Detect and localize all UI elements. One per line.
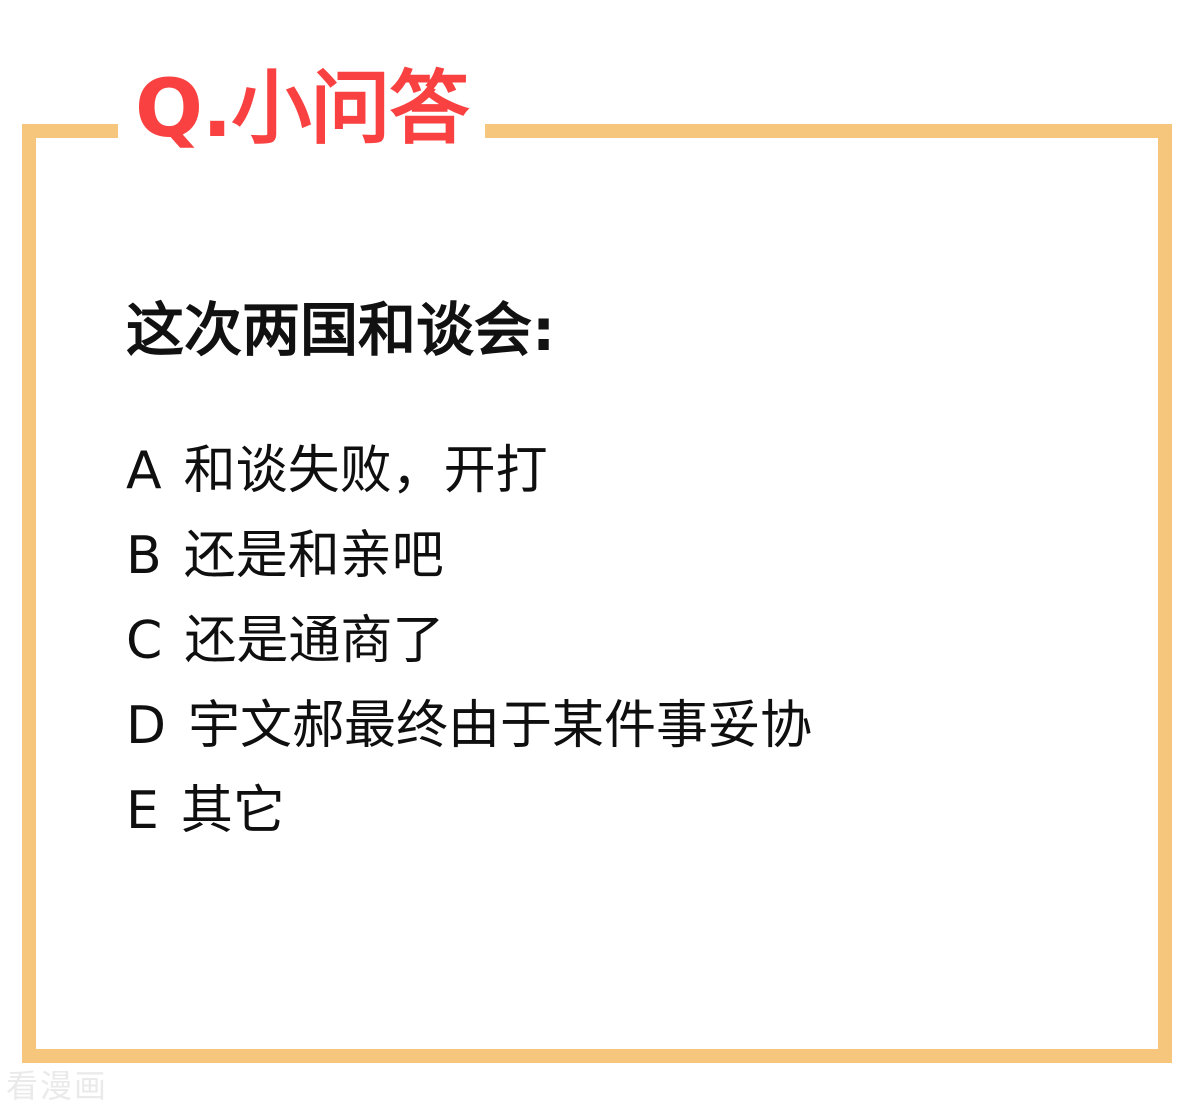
option-text-b: 还是和亲吧 bbox=[184, 525, 444, 587]
frame-bottom-segment bbox=[22, 1049, 1172, 1063]
option-key-d: D bbox=[126, 695, 166, 757]
option-key-a: A bbox=[126, 440, 162, 502]
watermark-text: 看漫画 bbox=[6, 1068, 108, 1104]
option-key-c: C bbox=[126, 610, 162, 672]
quiz-panel: Q.小问答 这次两国和谈会: A 和谈失败，开打 B 还是和亲吧 C 还是通商了… bbox=[0, 0, 1200, 1108]
options-list: A 和谈失败，开打 B 还是和亲吧 C 还是通商了 D 宇文郝最终由于某件事妥协… bbox=[126, 440, 1106, 865]
option-key-e: E bbox=[126, 780, 159, 842]
frame-right-segment bbox=[1158, 124, 1172, 1063]
option-row-a[interactable]: A 和谈失败，开打 bbox=[126, 440, 1106, 525]
option-text-d: 宇文郝最终由于某件事妥协 bbox=[188, 695, 812, 757]
frame-left-segment bbox=[22, 124, 36, 1063]
frame-top-right-segment bbox=[485, 124, 1172, 138]
option-row-e[interactable]: E 其它 bbox=[126, 780, 1106, 865]
option-row-d[interactable]: D 宇文郝最终由于某件事妥协 bbox=[126, 695, 1106, 780]
option-row-b[interactable]: B 还是和亲吧 bbox=[126, 525, 1106, 610]
page-title: Q.小问答 bbox=[135, 69, 468, 149]
option-text-a: 和谈失败，开打 bbox=[184, 440, 548, 502]
option-text-c: 还是通商了 bbox=[184, 610, 444, 672]
option-row-c[interactable]: C 还是通商了 bbox=[126, 610, 1106, 695]
frame-top-left-segment bbox=[22, 124, 118, 138]
question-heading: 这次两国和谈会: bbox=[126, 297, 555, 364]
option-key-b: B bbox=[126, 525, 162, 587]
option-text-e: 其它 bbox=[181, 780, 285, 842]
